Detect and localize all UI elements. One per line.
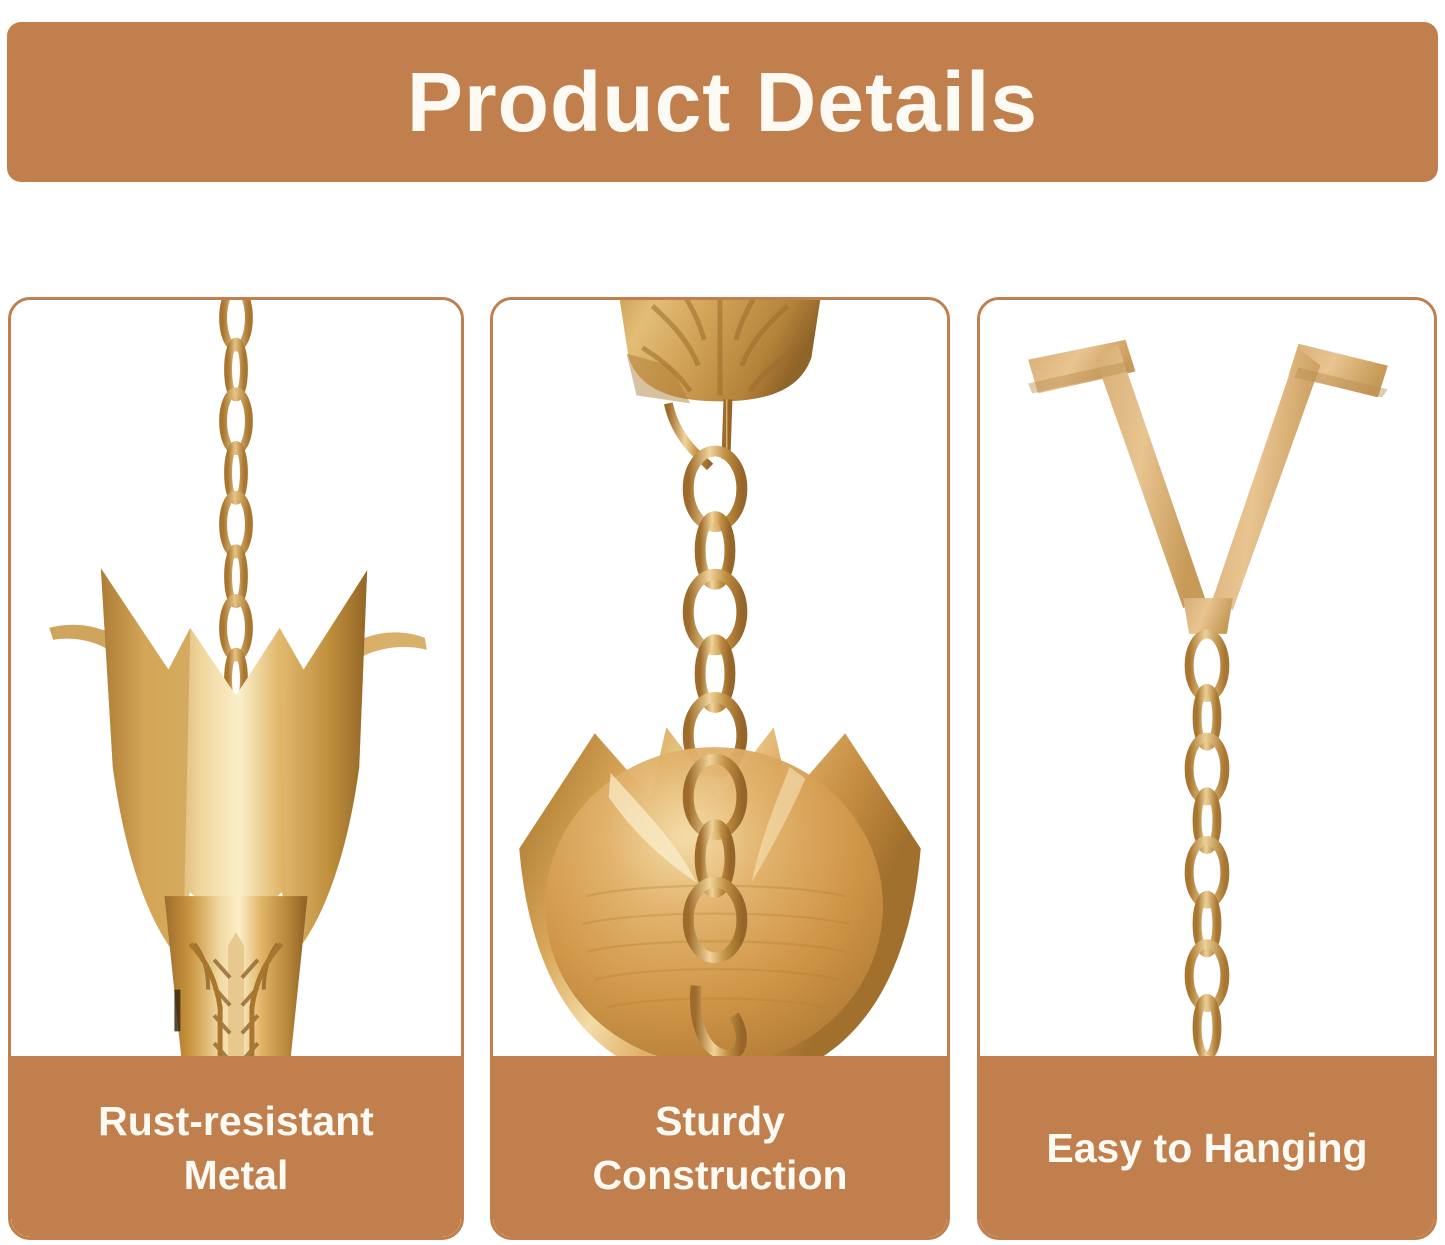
caption-label-sturdy-construction: Sturdy Construction <box>578 1094 861 1202</box>
product-feature-panels: Rust-resistant Metal <box>0 297 1445 1242</box>
caption-label-rust-resistant: Rust-resistant Metal <box>84 1094 388 1202</box>
cup-dome-highlight <box>545 747 883 1065</box>
caption-bar-rust-resistant: Rust-resistant Metal <box>8 1056 464 1240</box>
feature-card-easy-hanging[interactable]: Easy to Hanging <box>977 297 1437 1240</box>
hanger-chain <box>1189 634 1225 1056</box>
petal-right-shade <box>280 570 367 948</box>
feature-card-rust-resistant[interactable]: Rust-resistant Metal <box>8 297 464 1240</box>
feature-card-sturdy-construction[interactable]: Sturdy Construction <box>490 297 950 1240</box>
page-title: Product Details <box>407 60 1038 144</box>
chain-upper-links <box>688 451 742 773</box>
leaf-embossed-cup-top <box>611 300 830 403</box>
caption-bar-easy-hanging: Easy to Hanging <box>977 1056 1437 1240</box>
large-lotus-cup <box>519 727 920 1085</box>
chain-upper <box>223 300 249 707</box>
v-hanger-bracket <box>1028 340 1388 634</box>
petal-left-shade <box>101 568 190 948</box>
caption-bar-sturdy-construction: Sturdy Construction <box>490 1056 950 1240</box>
caption-label-easy-hanging: Easy to Hanging <box>1032 1121 1381 1175</box>
cone-slot-left <box>174 990 180 1032</box>
header-banner: Product Details <box>7 22 1438 182</box>
